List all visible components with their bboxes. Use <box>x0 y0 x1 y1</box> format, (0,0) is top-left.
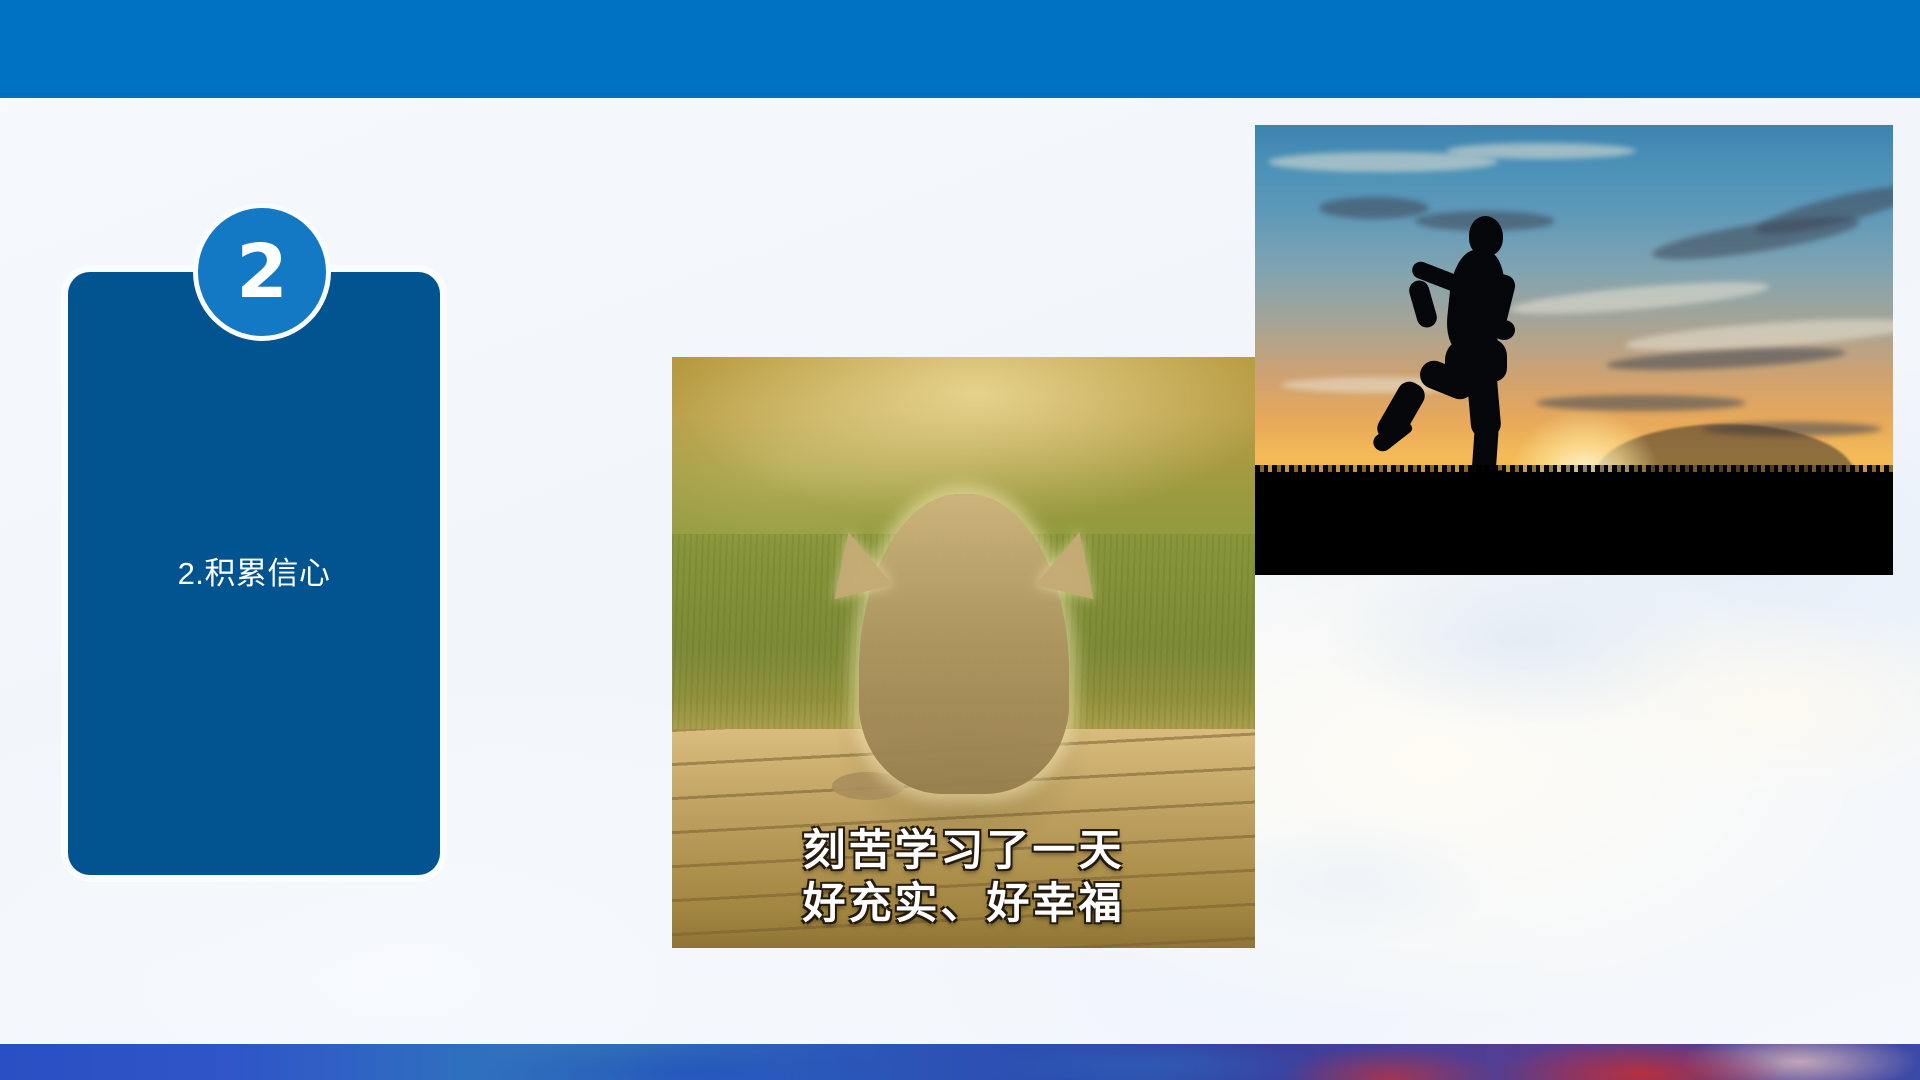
step-card[interactable]: 2.积累信心 <box>68 272 440 875</box>
runner-ground-silhouette <box>1255 472 1893 576</box>
runner-forearm-back <box>1406 278 1438 330</box>
step-number-badge: 2 <box>198 208 326 336</box>
cat-photo-caption: 刻苦学习了一天 好充实、好幸福 <box>672 825 1255 930</box>
step-card-group: 2.积累信心 2 <box>62 200 482 890</box>
cat-sunset-photo[interactable]: 刻苦学习了一天 好充实、好幸福 <box>672 357 1255 948</box>
cat-caption-line-1: 刻苦学习了一天 <box>672 825 1255 877</box>
step-card-label: 2.积累信心 <box>152 552 357 595</box>
cat-caption-line-2: 好充实、好幸福 <box>672 878 1255 930</box>
runner-silhouette <box>1383 216 1583 476</box>
runner-fist <box>1493 320 1515 340</box>
presentation-slide: 2.积累信心 2 刻苦学习了一天 好充实、好幸福 <box>0 0 1920 1080</box>
bottom-watercolor-strip <box>0 1044 1920 1080</box>
step-number-text: 2 <box>236 235 288 309</box>
top-blue-banner <box>0 0 1920 98</box>
runner-sunset-photo[interactable] <box>1255 125 1893 575</box>
runner-cloud-shape <box>1446 143 1636 159</box>
